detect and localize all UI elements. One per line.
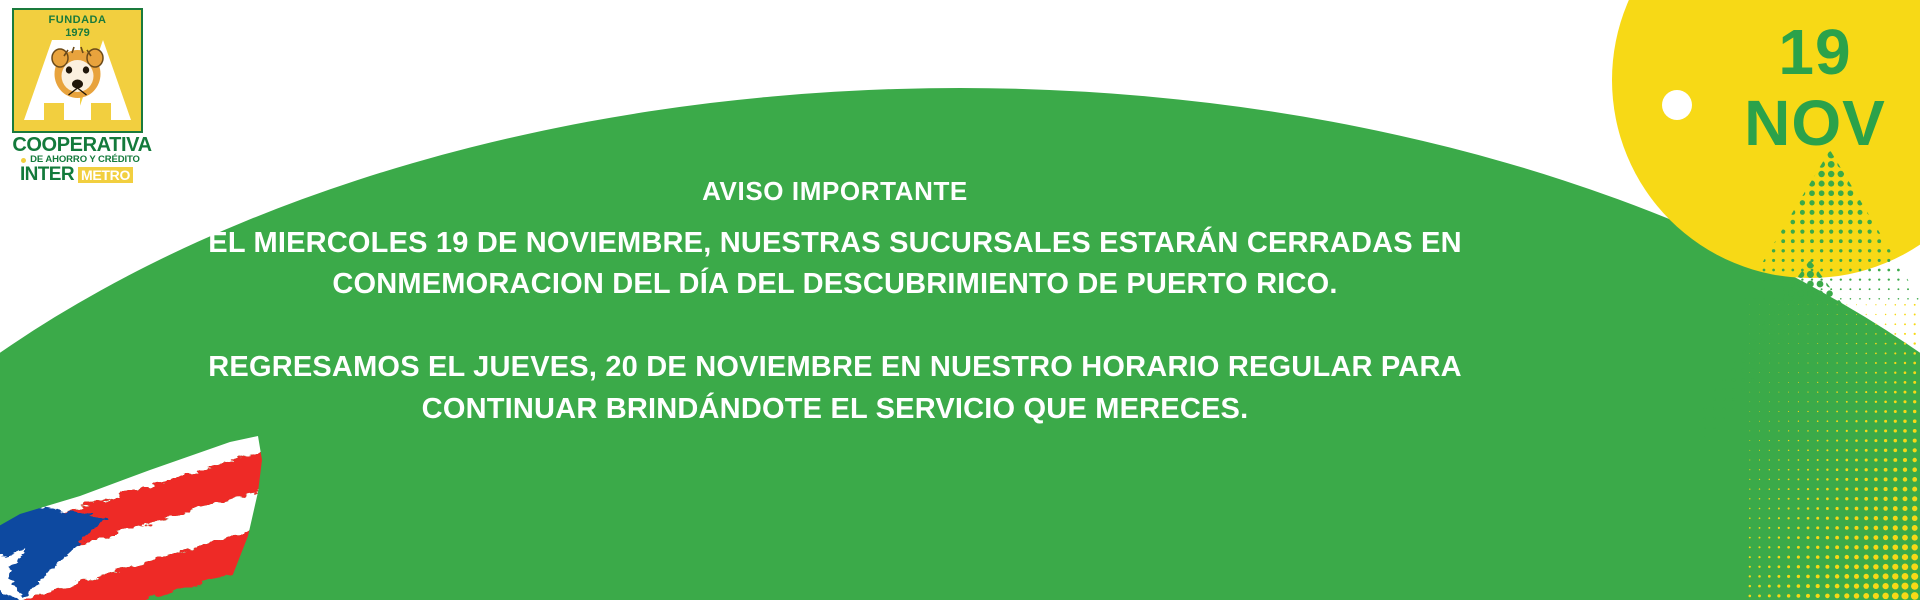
message-spacer: [180, 305, 1490, 347]
date-month: NOV: [1700, 93, 1920, 154]
announcement-banner: 19 NOV FUNDADA 1979: [0, 0, 1920, 600]
cooperativa-logo[interactable]: FUNDADA 1979 COOPERATIVA DE AHORRO Y CRÉ…: [12, 8, 152, 166]
logo-brand-primary: INTER: [20, 164, 74, 186]
message-title: AVISO IMPORTANTE: [180, 176, 1490, 207]
message-line: REGRESAMOS EL JUEVES, 20 DE NOVIEMBRE EN…: [180, 347, 1490, 388]
message-line: CONMEMORACION DEL DÍA DEL DESCUBRIMIENTO…: [180, 264, 1490, 305]
message-block: AVISO IMPORTANTE EL MIERCOLES 19 DE NOVI…: [180, 176, 1490, 430]
message-line: CONTINUAR BRINDÁNDOTE EL SERVICIO QUE ME…: [180, 389, 1490, 430]
date-badge-text: 19 NOV: [1700, 22, 1920, 154]
message-line: EL MIERCOLES 19 DE NOVIEMBRE, NUESTRAS S…: [180, 223, 1490, 264]
logo-brand-row: INTER METRO: [20, 164, 133, 186]
date-day: 19: [1700, 22, 1920, 83]
logo-mark-icon: [12, 8, 143, 133]
logo-brand-secondary: METRO: [78, 167, 133, 183]
white-dot-icon: [1662, 90, 1692, 120]
